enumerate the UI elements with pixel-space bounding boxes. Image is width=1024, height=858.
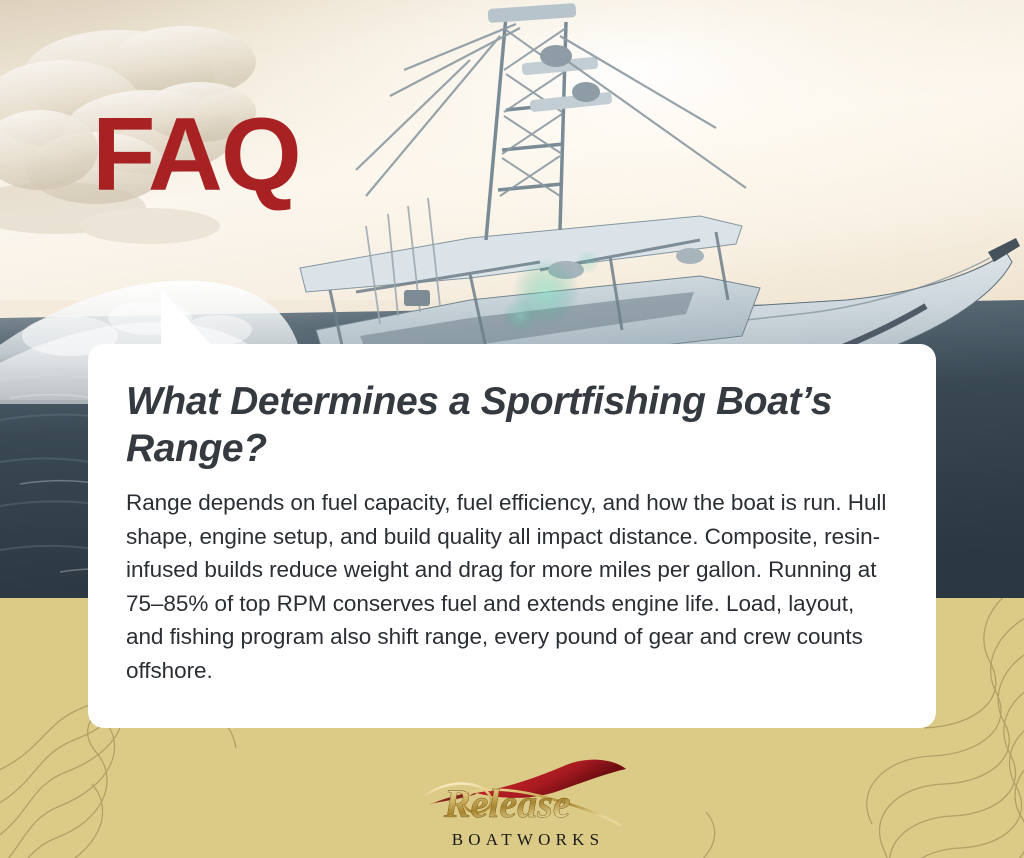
- faq-graphic-canvas: FAQ What Determines a Sportfishing Boat’…: [0, 0, 1024, 858]
- page-title: FAQ: [92, 103, 300, 207]
- brand-logo[interactable]: Release BOATWORKS: [418, 757, 638, 851]
- faq-answer-card: What Determines a Sportfishing Boat’s Ra…: [88, 344, 936, 728]
- release-boatworks-logo[interactable]: Release BOATWORKS: [418, 757, 638, 851]
- logo-wordmark: BOATWORKS: [452, 830, 605, 849]
- speech-bubble-tail: [161, 289, 213, 347]
- faq-question-title: What Determines a Sportfishing Boat’s Ra…: [126, 378, 886, 472]
- logo-script-word: Release: [443, 781, 571, 826]
- faq-answer-body: Range depends on fuel capacity, fuel eff…: [126, 486, 896, 687]
